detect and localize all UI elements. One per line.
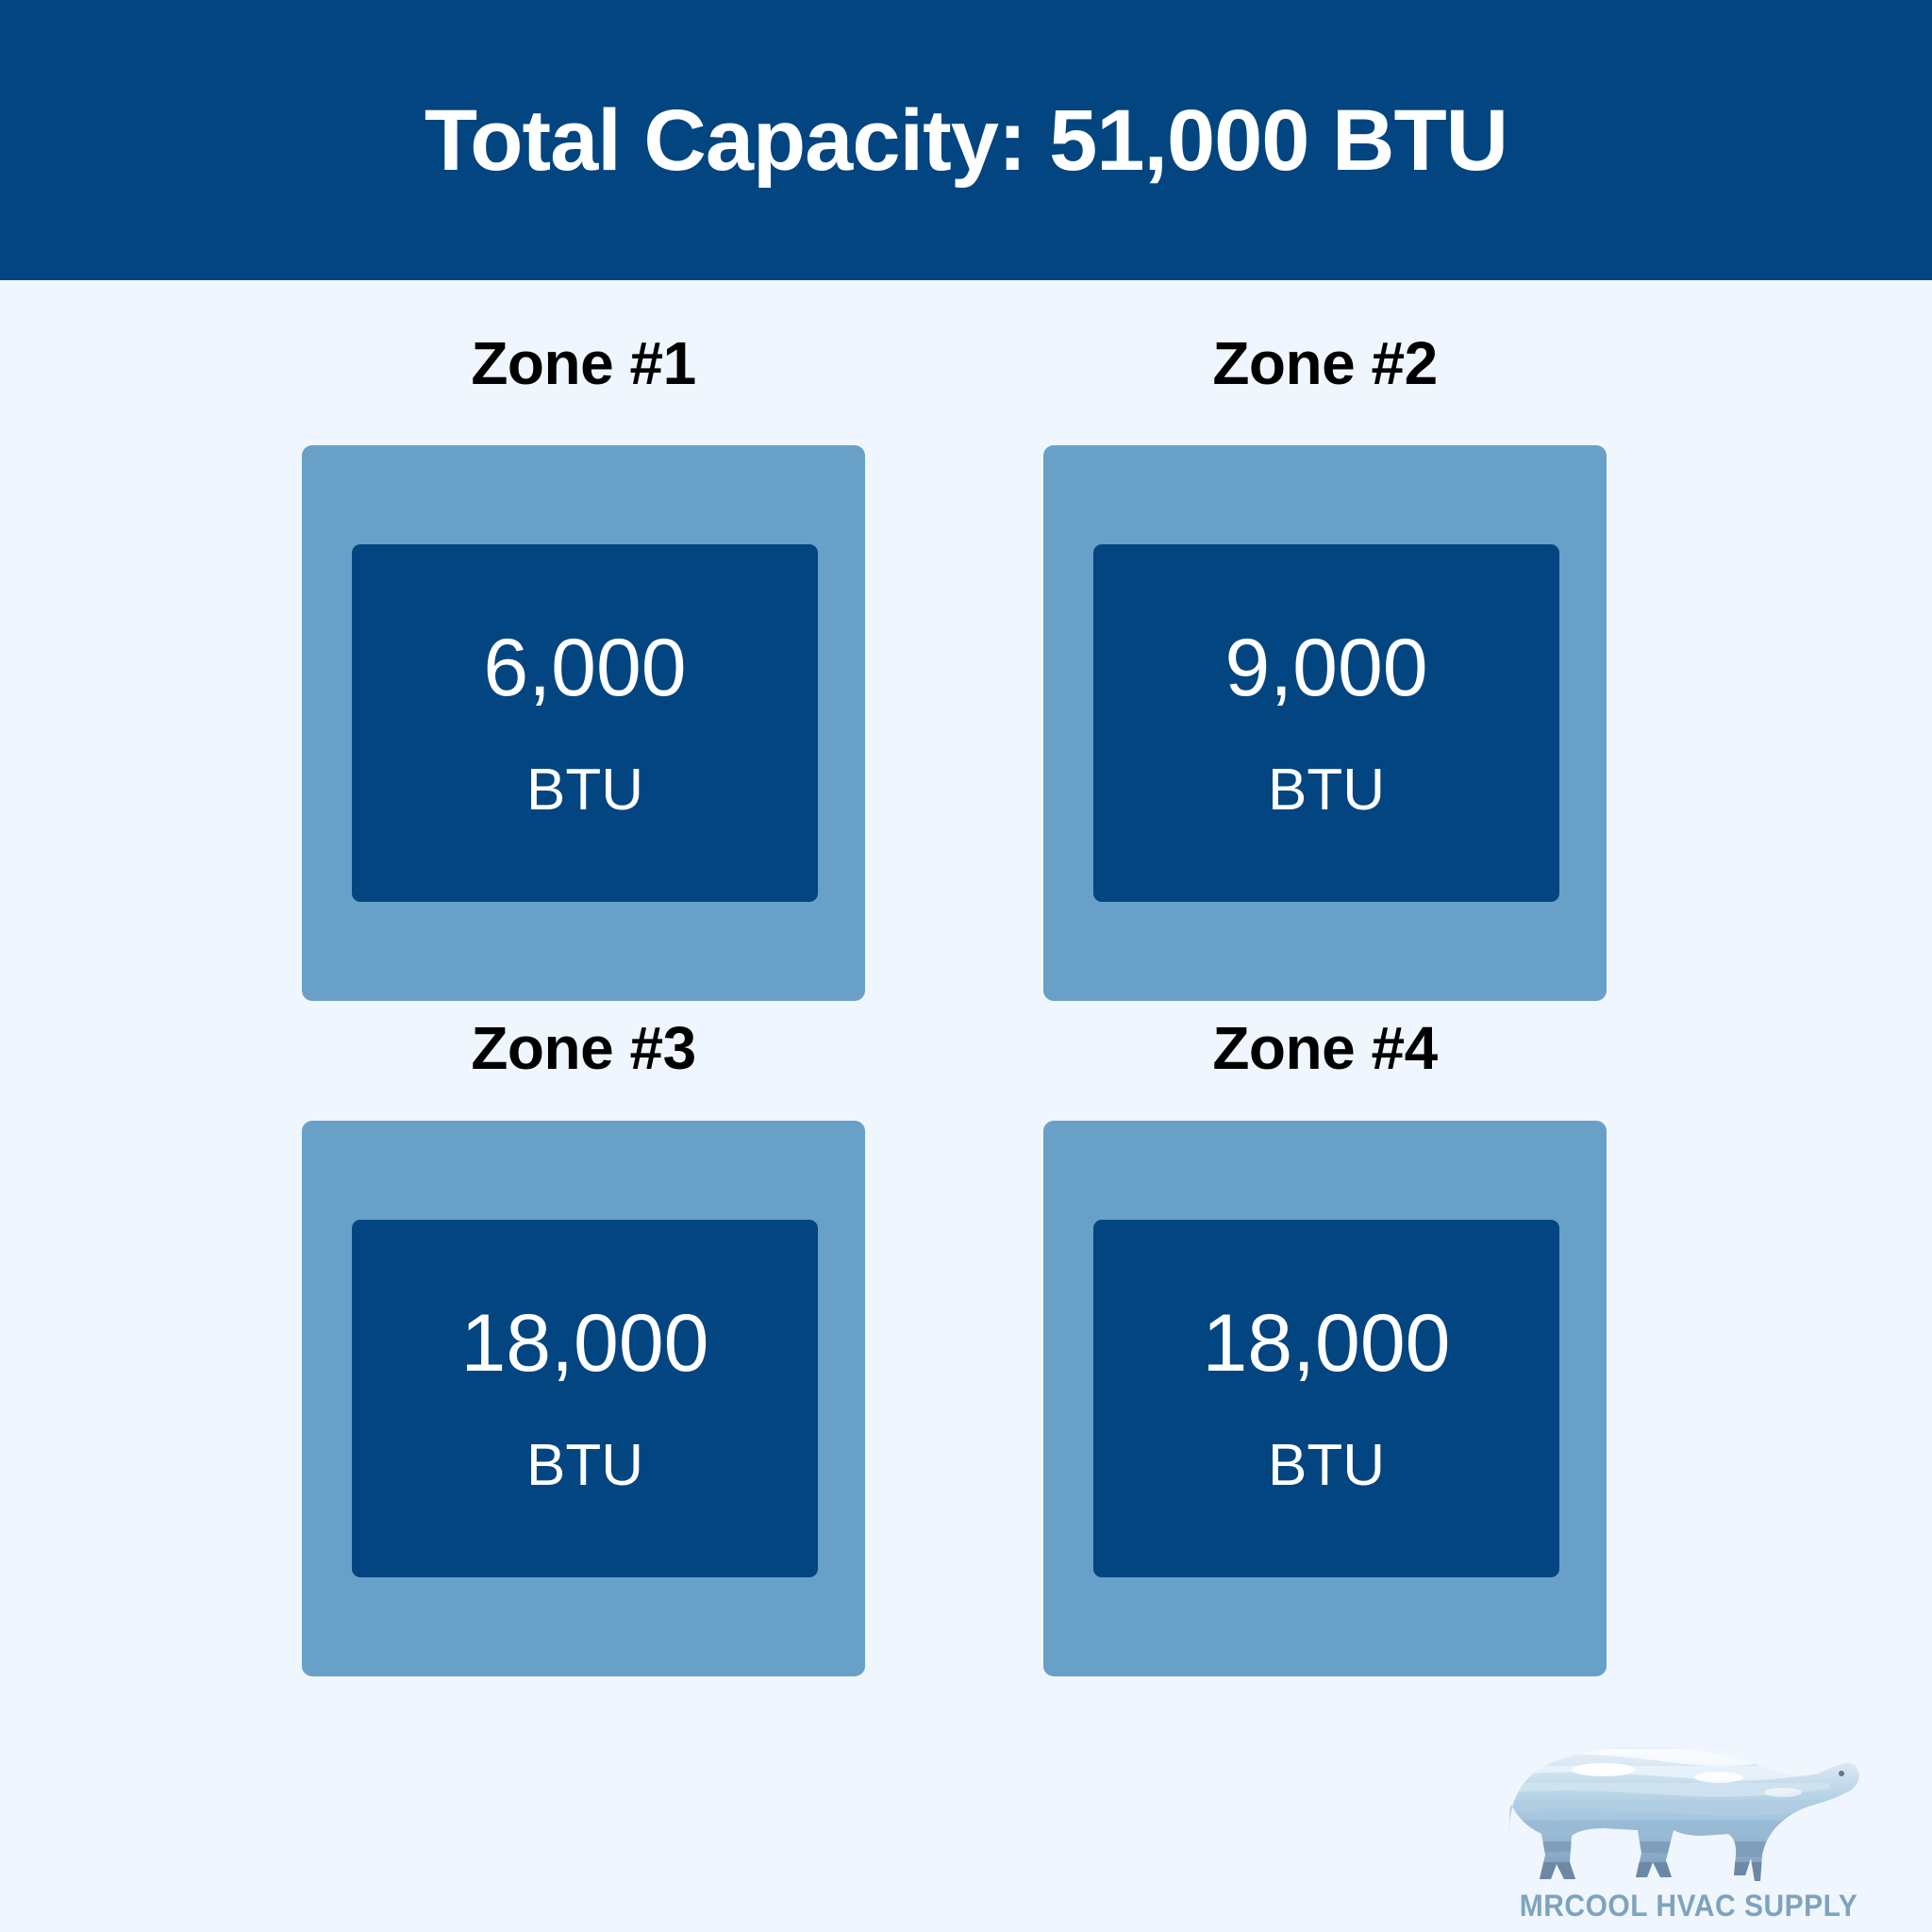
polar-bear-icon (1472, 1734, 1906, 1894)
zone-value-1: 6,000 (483, 627, 686, 708)
bear-eye-icon (1839, 1771, 1844, 1776)
zone-card-3: 18,000 BTU (302, 1121, 865, 1676)
zone-cell-1: Zone #1 6,000 BTU (302, 280, 865, 1001)
zone-cell-4: Zone #4 18,000 BTU (1043, 975, 1607, 1676)
zone-card-4: 18,000 BTU (1043, 1121, 1607, 1676)
zone-card-2: 9,000 BTU (1043, 445, 1607, 1001)
zone-value-3: 18,000 (460, 1303, 708, 1384)
zone-value-4: 18,000 (1202, 1303, 1450, 1384)
brand-logo: MRCOOL HVAC SUPPLY (1472, 1687, 1906, 1923)
zone-cell-3: Zone #3 18,000 BTU (302, 975, 865, 1676)
zone-label-1: Zone #1 (302, 280, 865, 445)
zones-grid: Zone #1 6,000 BTU Zone #2 9,000 BTU Zone… (0, 280, 1932, 1932)
zone-cell-2: Zone #2 9,000 BTU (1043, 280, 1607, 1001)
zone-capacity-box-1: 6,000 BTU (352, 544, 818, 902)
zone-label-4: Zone #4 (1043, 975, 1607, 1121)
zone-unit-4: BTU (1268, 1437, 1385, 1495)
zone-value-2: 9,000 (1224, 627, 1427, 708)
zone-unit-3: BTU (526, 1437, 643, 1495)
zone-card-1: 6,000 BTU (302, 445, 865, 1001)
header-banner: Total Capacity: 51,000 BTU (0, 0, 1932, 280)
zone-label-2: Zone #2 (1043, 280, 1607, 445)
zone-unit-1: BTU (526, 761, 643, 820)
zone-label-3: Zone #3 (302, 975, 865, 1121)
brand-name: MRCOOL HVAC SUPPLY (1520, 1889, 1857, 1923)
zone-capacity-box-2: 9,000 BTU (1093, 544, 1559, 902)
zone-unit-2: BTU (1268, 761, 1385, 820)
zone-capacity-box-3: 18,000 BTU (352, 1220, 818, 1577)
zone-capacity-box-4: 18,000 BTU (1093, 1220, 1559, 1577)
page-title: Total Capacity: 51,000 BTU (425, 97, 1507, 184)
